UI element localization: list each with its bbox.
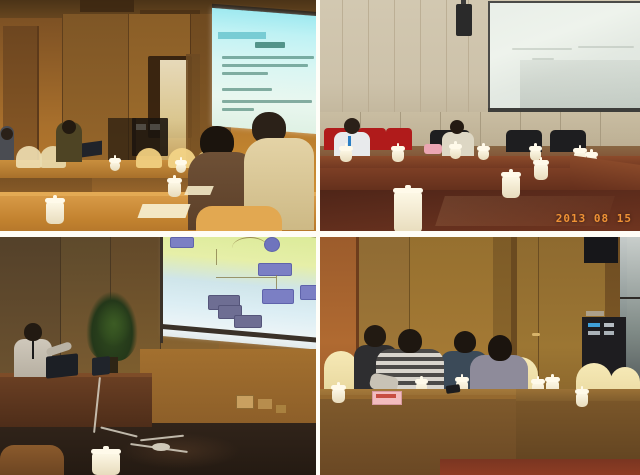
- lanyard: [32, 341, 34, 359]
- floor-carpet: [440, 459, 640, 475]
- slide-heading: [255, 42, 285, 48]
- flowchart-connector: [216, 277, 276, 278]
- tea-cup: [340, 146, 352, 162]
- door-handle-icon[interactable]: [532, 333, 540, 336]
- tea-cup: [478, 146, 489, 160]
- scene-top-left: Meeting room with projected slide and se…: [0, 0, 316, 231]
- screen-shadow: [520, 60, 640, 108]
- flowchart-connector: [276, 275, 277, 289]
- tea-cup: [450, 144, 461, 159]
- tea-cup: [576, 389, 588, 407]
- av-cabinet-panel: [136, 124, 146, 130]
- paper-sheet: [137, 204, 190, 218]
- paper-sheet: [184, 186, 214, 195]
- slide-text-line: [222, 72, 268, 75]
- scene-bottom-left: Female presenter at laptop beside a flow…: [0, 237, 316, 475]
- scene-top-right: 2013 08 15 Bright conference room with b…: [320, 0, 640, 231]
- attendee-head: [454, 331, 476, 353]
- chair: [136, 148, 162, 168]
- laptop: [92, 356, 110, 376]
- ceiling-duct-icon: [80, 0, 134, 12]
- chair-foreground: [196, 206, 282, 231]
- photo-bottom-left[interactable]: Female presenter at laptop beside a flow…: [0, 237, 316, 475]
- wall-seam: [480, 112, 481, 146]
- ceiling-speaker-icon: [584, 237, 618, 263]
- attendee-head: [1, 128, 13, 140]
- tea-cup: [176, 160, 186, 173]
- cable-coil: [152, 443, 170, 451]
- slide-text-line: [222, 108, 254, 111]
- date-stamp: 2013 08 15: [556, 212, 632, 225]
- tea-cup: [168, 178, 181, 197]
- power-outlet-icon: [236, 395, 254, 409]
- presenter-head: [24, 323, 42, 341]
- wall-seam: [446, 0, 447, 118]
- slide-text-line: [222, 56, 314, 59]
- wall-speaker-icon: [456, 4, 472, 36]
- slide-text-line: [222, 100, 312, 103]
- chair-foreground: [0, 445, 64, 475]
- flowchart-node: [258, 263, 292, 276]
- wall-seam: [342, 0, 343, 118]
- wall-seam: [420, 0, 421, 118]
- attendee-head: [344, 118, 360, 134]
- wall-seam: [368, 0, 369, 118]
- flowchart-node: [170, 237, 194, 248]
- wall-seam: [394, 0, 395, 118]
- paper-sheet: [419, 395, 465, 404]
- window-frame: [620, 297, 640, 299]
- tea-cup-foreground: [92, 449, 120, 475]
- flowchart-node-circle: [264, 237, 280, 252]
- scene-bottom-right: Four attendees seated behind a skirted t…: [320, 237, 640, 475]
- paper-sheet: [583, 403, 626, 413]
- note-pad: [576, 164, 619, 174]
- flowchart-node: [262, 289, 294, 304]
- wall-seam: [600, 112, 601, 146]
- slide-text-line: [578, 46, 634, 48]
- tea-cup: [502, 172, 520, 198]
- flowchart-node: [234, 315, 262, 328]
- chair: [16, 146, 42, 168]
- presenter-desk: [0, 377, 152, 427]
- flowchart-connector: [216, 249, 217, 265]
- rack-label: [586, 311, 604, 316]
- potted-plant-foliage: [96, 301, 132, 347]
- photo-top-left[interactable]: Meeting room with projected slide and se…: [0, 0, 316, 231]
- laptop: [82, 141, 102, 158]
- laptop: [46, 353, 78, 378]
- slide-text-line: [222, 88, 272, 91]
- attendee-head: [450, 120, 464, 134]
- photo-bottom-right[interactable]: Four attendees seated behind a skirted t…: [320, 237, 640, 475]
- presenter-head: [62, 120, 76, 134]
- slide-title-banner: [218, 32, 266, 39]
- rack-indicator: [604, 323, 614, 327]
- power-outlet-icon: [276, 405, 286, 413]
- power-outlet-icon: [258, 399, 272, 409]
- pink-bag: [424, 144, 442, 154]
- slide-text-line: [512, 48, 572, 50]
- av-cabinet-panel: [150, 124, 160, 130]
- rack-indicator: [588, 331, 600, 335]
- name-placard-text: [376, 394, 396, 398]
- tea-cup-foreground: [394, 188, 422, 231]
- flowchart-node: [300, 285, 316, 300]
- attendee-head: [364, 325, 386, 347]
- wainscot-wall: [140, 349, 316, 423]
- note-pad: [550, 178, 600, 190]
- tea-cup: [392, 146, 404, 162]
- tea-cup: [110, 158, 120, 171]
- rack-indicator: [588, 323, 600, 327]
- photo-collage: Meeting room with projected slide and se…: [0, 0, 640, 475]
- curtain-edge: [186, 54, 200, 164]
- tea-cup: [46, 198, 64, 224]
- slide-text-line: [222, 64, 308, 67]
- photo-top-right[interactable]: 2013 08 15 Bright conference room with b…: [320, 0, 640, 231]
- rack-indicator: [604, 331, 614, 335]
- note-pad: [457, 196, 532, 214]
- attendee-head: [488, 335, 512, 361]
- slide-text-line: [532, 58, 554, 60]
- attendee-head: [398, 329, 422, 353]
- tea-cup: [534, 160, 548, 180]
- tea-cup: [332, 385, 345, 403]
